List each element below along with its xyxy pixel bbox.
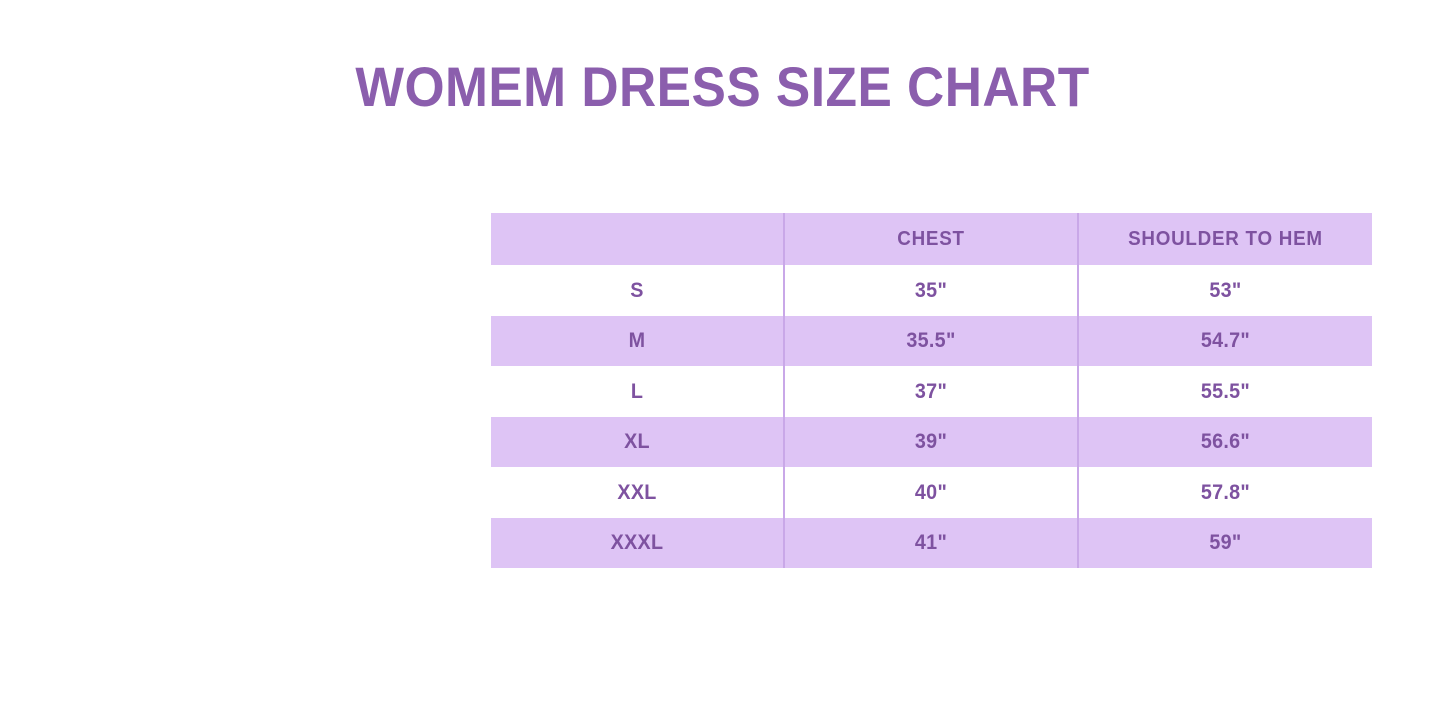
cell-shoulder-to-hem: 57.8": [1087, 467, 1363, 518]
cell-chest: 37": [793, 366, 1069, 417]
cell-size: XL: [499, 417, 775, 468]
table-row: L 37" 55.5": [490, 366, 1372, 417]
cell-chest: 35.5": [793, 316, 1069, 367]
table-row: XXXL 41" 59": [490, 518, 1372, 569]
cell-shoulder-to-hem: 56.6": [1087, 417, 1363, 468]
column-header-chest: CHEST: [793, 213, 1069, 265]
table-row: M 35.5" 54.7": [490, 316, 1372, 367]
cell-chest: 35": [793, 265, 1069, 316]
cell-size: M: [499, 316, 775, 367]
cell-size: S: [499, 265, 775, 316]
page-title: WOMEM DRESS SIZE CHART: [58, 55, 1387, 119]
table-row: XL 39" 56.6": [490, 417, 1372, 468]
cell-shoulder-to-hem: 55.5": [1087, 366, 1363, 417]
column-header-shoulder-to-hem: SHOULDER TO HEM: [1087, 213, 1363, 265]
cell-size: L: [499, 366, 775, 417]
cell-chest: 39": [793, 417, 1069, 468]
column-header-size: [499, 213, 775, 265]
cell-chest: 41": [793, 518, 1069, 569]
table-body: S 35" 53" M 35.5" 54.7" L 37" 55.5" XL 3…: [490, 265, 1372, 568]
cell-shoulder-to-hem: 59": [1087, 518, 1363, 569]
table-row: S 35" 53": [490, 265, 1372, 316]
table-header: CHEST SHOULDER TO HEM: [490, 213, 1372, 265]
cell-shoulder-to-hem: 54.7": [1087, 316, 1363, 367]
cell-chest: 40": [793, 467, 1069, 518]
size-chart-page: WOMEM DRESS SIZE CHART CHEST SHOULDER TO…: [0, 0, 1445, 723]
cell-size: XXXL: [499, 518, 775, 569]
table-row: XXL 40" 57.8": [490, 467, 1372, 518]
table-header-row: CHEST SHOULDER TO HEM: [490, 213, 1372, 265]
cell-shoulder-to-hem: 53": [1087, 265, 1363, 316]
cell-size: XXL: [499, 467, 775, 518]
size-chart-table: CHEST SHOULDER TO HEM S 35" 53" M 35.5" …: [489, 213, 1372, 568]
